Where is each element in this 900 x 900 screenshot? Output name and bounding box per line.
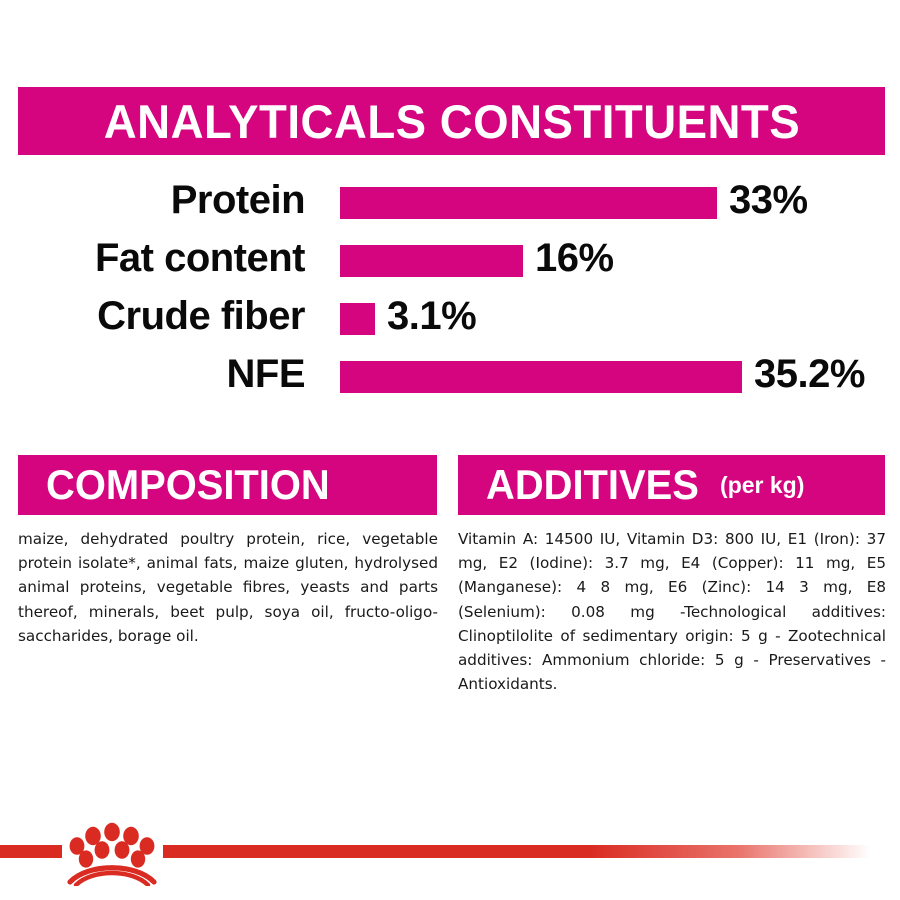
chart-bar-crude-fiber [340,303,375,335]
additives-title: ADDITIVES [486,464,699,506]
chart-value-fat-content: 16% [535,236,614,280]
composition-header: COMPOSITION [18,455,437,515]
chart-value-protein: 33% [729,178,808,222]
footer-brand-mark [0,806,900,900]
royal-canin-crown-icon [60,816,164,886]
additives-header: ADDITIVES (per kg) [458,455,885,515]
analytical-constituents-chart: Protein33%Fat content16%Crude fiber3.1%N… [0,178,900,403]
chart-label-nfe: NFE [0,352,305,396]
chart-bar-protein [340,187,717,219]
chart-bar-nfe [340,361,742,393]
chart-label-crude-fiber: Crude fiber [0,294,305,338]
chart-row: Fat content16% [0,236,900,284]
chart-row: Protein33% [0,178,900,226]
chart-label-protein: Protein [0,178,305,222]
chart-row: Crude fiber3.1% [0,294,900,342]
additives-body: Vitamin A: 14500 IU, Vitamin D3: 800 IU,… [458,527,886,696]
footer-rule-right [163,845,900,858]
chart-label-fat-content: Fat content [0,236,305,280]
page-title: ANALYTICALS CONSTITUENTS [103,98,799,145]
chart-value-nfe: 35.2% [754,352,865,396]
footer-rule-left [0,845,62,858]
composition-body: maize, dehydrated poultry protein, rice,… [18,527,438,648]
analyticals-constituents-header: ANALYTICALS CONSTITUENTS [18,87,885,155]
additives-per-kg-note: (per kg) [720,474,804,497]
chart-bar-fat-content [340,245,523,277]
composition-title: COMPOSITION [46,464,330,506]
chart-value-crude-fiber: 3.1% [387,294,476,338]
chart-row: NFE35.2% [0,352,900,400]
